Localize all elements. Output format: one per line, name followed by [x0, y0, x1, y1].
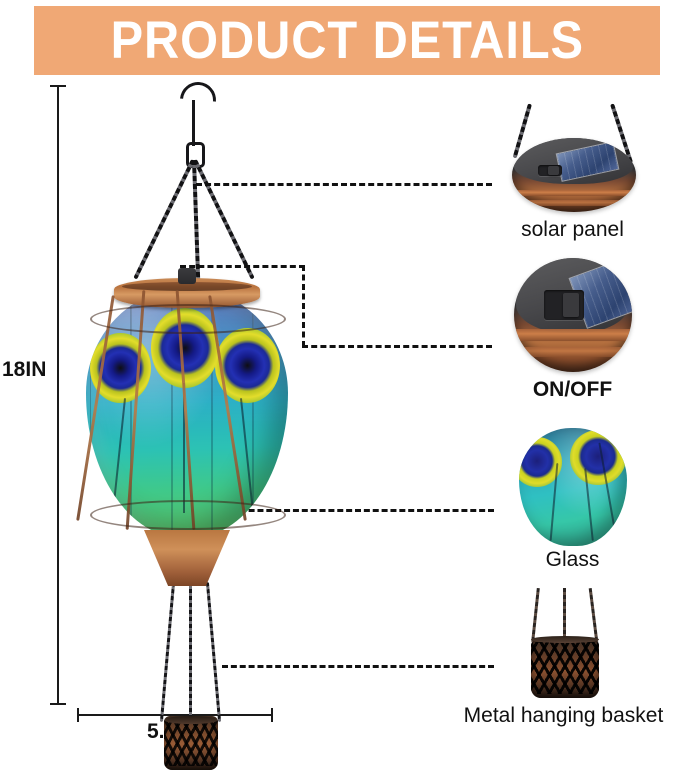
peacock-glass-closeup — [519, 428, 627, 546]
callout-label-glass: Glass — [468, 548, 677, 572]
page-title: PRODUCT DETAILS — [110, 14, 583, 67]
basket-art — [509, 588, 619, 702]
basket-chain-right — [588, 588, 598, 642]
leader-line-on-off-b — [302, 265, 305, 347]
basket-rim — [531, 636, 599, 643]
lower-chain-center — [189, 582, 192, 722]
glass-art — [519, 428, 627, 546]
basket-body — [531, 638, 599, 698]
copper-cone — [144, 530, 230, 586]
callout-metal-hanging-basket: Metal hanging basket — [448, 588, 679, 728]
leader-line-solar-panel — [196, 183, 492, 186]
height-dimension-label: 18IN — [2, 358, 58, 382]
solar-panel-art — [498, 104, 648, 216]
basket-chain-left — [531, 588, 540, 642]
callout-on-off: ON/OFF — [468, 258, 677, 402]
header-banner: PRODUCT DETAILS — [34, 6, 660, 75]
lower-chain-left — [160, 582, 175, 722]
leader-line-on-off-a — [180, 265, 305, 268]
switch-slot — [538, 165, 563, 177]
callout-label-solar-panel: solar panel — [468, 218, 677, 242]
height-dimension-line — [57, 85, 59, 705]
main-chain-right — [193, 159, 254, 279]
leader-line-on-off-c — [302, 345, 492, 348]
callout-glass: Glass — [468, 428, 677, 572]
metal-basket — [164, 716, 218, 770]
callout-label-metal-hanging-basket: Metal hanging basket — [448, 704, 679, 728]
product-image — [60, 82, 310, 712]
product-details-infographic: PRODUCT DETAILS 18IN 5.5 IN — [0, 0, 679, 746]
on-off-cap-disc — [514, 258, 632, 372]
lower-chain-right — [206, 582, 221, 722]
callout-solar-panel: solar panel — [468, 104, 677, 242]
on-off-switch — [544, 290, 584, 320]
solar-cap-top — [178, 268, 196, 284]
on-off-art — [514, 258, 632, 376]
s-hook-icon — [178, 82, 212, 144]
solar-cap-disc — [512, 138, 636, 212]
main-chain-left — [133, 159, 194, 279]
callout-label-on-off: ON/OFF — [468, 378, 677, 402]
glass-eye-right — [570, 430, 626, 484]
